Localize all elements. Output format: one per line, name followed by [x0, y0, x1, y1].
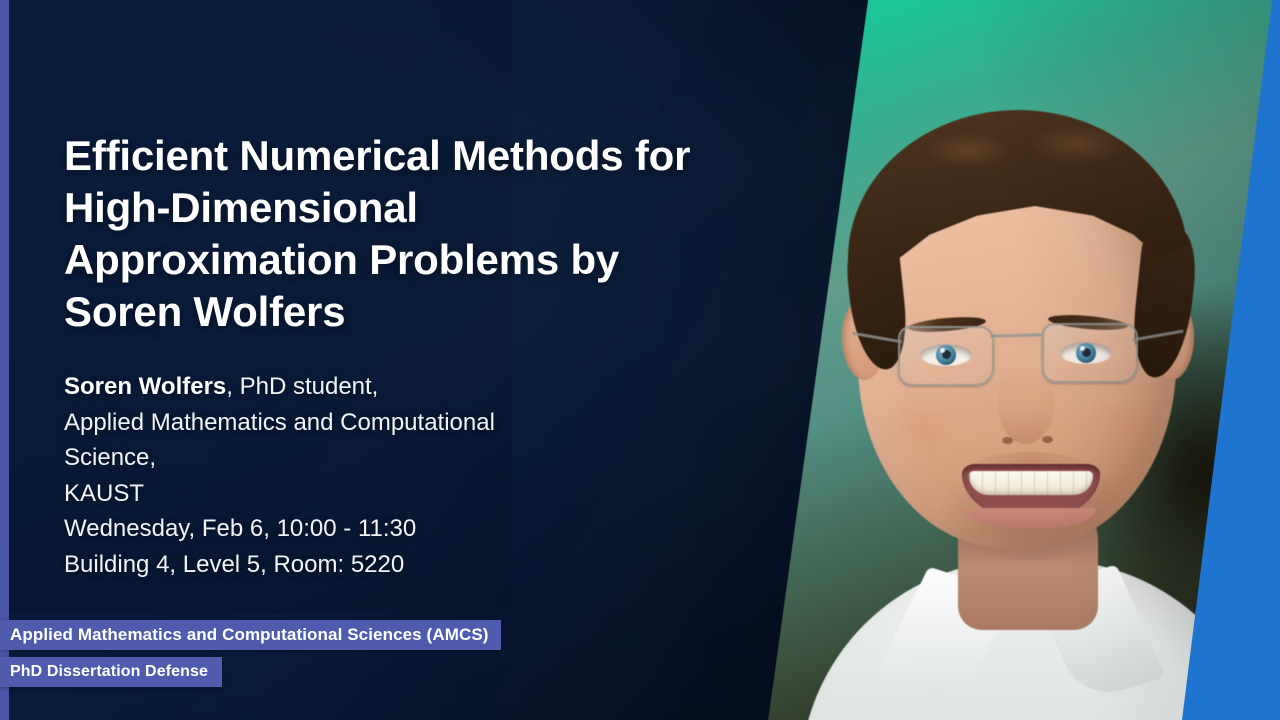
eyeglass-lens-left	[898, 326, 994, 386]
speaker-line: Soren Wolfers, PhD student,	[64, 369, 664, 405]
affiliation-line-2: Science,	[64, 440, 664, 476]
seminar-announcement-slide: Efficient Numerical Methods for High-Dim…	[0, 0, 1280, 720]
eyeglass-temple-left	[852, 332, 902, 344]
affiliation-line-1: Applied Mathematics and Computational	[64, 405, 664, 441]
speaker-role: , PhD student,	[226, 373, 378, 400]
department-banner: Applied Mathematics and Computational Sc…	[0, 620, 501, 650]
speaker-name: Soren Wolfers	[64, 373, 226, 400]
eyeglass-temple-right	[1132, 330, 1184, 342]
seminar-datetime: Wednesday, Feb 6, 10:00 - 11:30	[64, 511, 664, 547]
seminar-title: Efficient Numerical Methods for High-Dim…	[64, 130, 704, 338]
institution: KAUST	[64, 476, 664, 512]
event-type-banner: PhD Dissertation Defense	[0, 657, 222, 687]
seminar-details: Soren Wolfers, PhD student, Applied Math…	[64, 369, 664, 582]
seminar-location: Building 4, Level 5, Room: 5220	[64, 547, 664, 583]
teeth	[969, 471, 1093, 495]
eyeglass-lens-right	[1042, 323, 1138, 383]
left-accent-bar	[0, 0, 9, 720]
eyeglass-bridge	[990, 333, 1042, 337]
slide-content: Efficient Numerical Methods for High-Dim…	[64, 130, 724, 582]
